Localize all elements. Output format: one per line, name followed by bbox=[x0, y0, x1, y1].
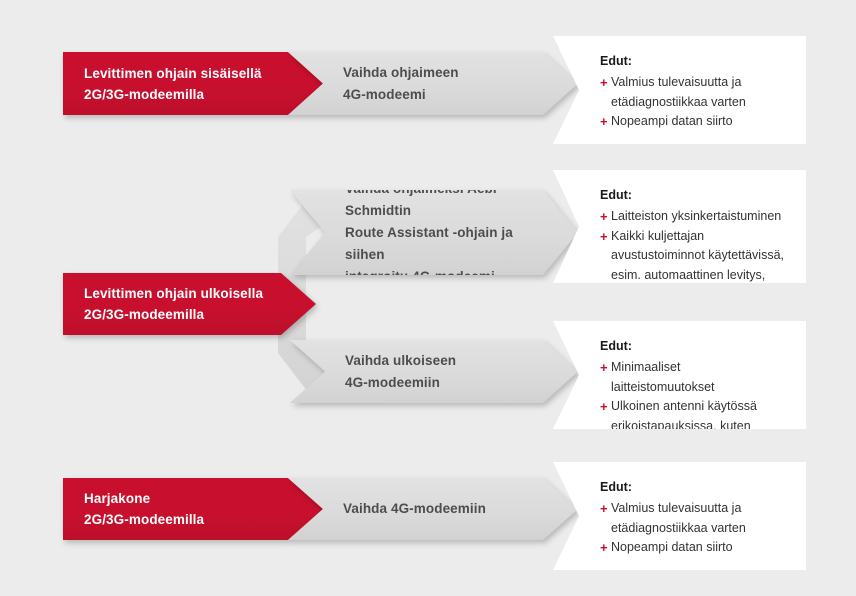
plus-icon: + bbox=[600, 73, 611, 93]
action-line-2: Route Assistant -ohjain ja siihen bbox=[345, 225, 513, 262]
benefits-card-route-assistant: Edut: + Laitteiston yksinkertaistuminen … bbox=[553, 170, 806, 283]
plus-icon: + bbox=[600, 207, 611, 227]
benefits-card-internal-modem: Edut: + Valmius tulevaisuutta ja etädiag… bbox=[553, 36, 806, 144]
source-label-external-modem: Levittimen ohjain ulkoisella 2G/3G-modee… bbox=[84, 283, 263, 325]
plus-icon: + bbox=[600, 112, 611, 132]
upgrade-path-diagram: Levittimen ohjain sisäisellä 2G/3G-modee… bbox=[0, 0, 856, 596]
benefit-text: Laitteiston yksinkertaistuminen bbox=[611, 207, 786, 227]
action-line-1: Vaihda 4G-modeemiin bbox=[343, 501, 486, 516]
benefit-item: + Laitteiston yksinkertaistuminen bbox=[600, 207, 786, 227]
benefit-item: + Nopeampi datan siirto bbox=[600, 112, 786, 132]
source-chevron-sweeper[interactable]: Harjakone 2G/3G-modeemilla bbox=[63, 478, 323, 540]
action-label-external-4g-modem: Vaihda ulkoiseen 4G-modeemiin bbox=[345, 350, 456, 394]
benefit-item: + Kaikki kuljettajan avustustoiminnot kä… bbox=[600, 227, 786, 325]
benefit-text: Nopeampi datan siirto bbox=[611, 112, 786, 132]
benefit-item: + Valmius tulevaisuutta ja etädiagnostii… bbox=[600, 499, 786, 538]
plus-icon: + bbox=[600, 538, 611, 558]
source-line-1: Harjakone bbox=[84, 491, 150, 506]
action-chevron-route-assistant[interactable]: Vaihda ohjaimeksi Aebi Schmidtin Route A… bbox=[290, 190, 578, 275]
benefits-title: Edut: bbox=[600, 52, 786, 71]
action-line-1: Vaihda ohjaimeksi Aebi Schmidtin bbox=[345, 181, 497, 218]
benefit-text: Valmius tulevaisuutta ja etädiagnostiikk… bbox=[611, 73, 786, 112]
source-chevron-external-modem[interactable]: Levittimen ohjain ulkoisella 2G/3G-modee… bbox=[63, 273, 316, 335]
plus-icon: + bbox=[600, 358, 611, 378]
action-chevron-external-4g-modem[interactable]: Vaihda ulkoiseen 4G-modeemiin bbox=[290, 340, 578, 403]
action-chevron-internal-modem[interactable]: Vaihda ohjaimeen 4G-modeemi bbox=[288, 52, 578, 115]
action-line-1: Vaihda ulkoiseen bbox=[345, 353, 456, 368]
plus-icon: + bbox=[600, 499, 611, 519]
source-line-2: 2G/3G-modeemilla bbox=[84, 87, 204, 102]
action-line-1: Vaihda ohjaimeen bbox=[343, 65, 459, 80]
source-chevron-internal-modem[interactable]: Levittimen ohjain sisäisellä 2G/3G-modee… bbox=[63, 52, 323, 115]
plus-icon: + bbox=[600, 397, 611, 417]
benefit-item: + Minimaaliset laitteistomuutokset bbox=[600, 358, 786, 397]
benefits-title: Edut: bbox=[600, 186, 786, 205]
action-chevron-sweeper[interactable]: Vaihda 4G-modeemiin bbox=[288, 478, 578, 540]
source-label-internal-modem: Levittimen ohjain sisäisellä 2G/3G-modee… bbox=[84, 63, 262, 105]
benefit-text: Minimaaliset laitteistomuutokset bbox=[611, 358, 786, 397]
source-line-2: 2G/3G-modeemilla bbox=[84, 512, 204, 527]
benefit-text: Nopeampi datan siirto bbox=[611, 538, 786, 558]
action-line-2: 4G-modeemiin bbox=[345, 375, 440, 390]
source-line-1: Levittimen ohjain sisäisellä bbox=[84, 66, 262, 81]
benefit-text: Kaikki kuljettajan avustustoiminnot käyt… bbox=[611, 227, 786, 325]
source-line-2: 2G/3G-modeemilla bbox=[84, 307, 204, 322]
plus-icon: + bbox=[600, 227, 611, 247]
benefits-title: Edut: bbox=[600, 337, 786, 356]
action-line-2: 4G-modeemi bbox=[343, 87, 426, 102]
action-line-3: integroitu 4G-modeemi bbox=[345, 269, 495, 284]
benefits-title: Edut: bbox=[600, 478, 786, 497]
benefit-text: Valmius tulevaisuutta ja etädiagnostiikk… bbox=[611, 499, 786, 538]
action-label-route-assistant: Vaihda ohjaimeksi Aebi Schmidtin Route A… bbox=[345, 178, 533, 288]
benefits-card-sweeper: Edut: + Valmius tulevaisuutta ja etädiag… bbox=[553, 462, 806, 570]
source-line-1: Levittimen ohjain ulkoisella bbox=[84, 286, 263, 301]
benefit-item: + Valmius tulevaisuutta ja etädiagnostii… bbox=[600, 73, 786, 112]
benefit-item: + Nopeampi datan siirto bbox=[600, 538, 786, 558]
benefits-card-external-4g-modem: Edut: + Minimaaliset laitteistomuutokset… bbox=[553, 321, 806, 429]
action-label-internal-modem: Vaihda ohjaimeen 4G-modeemi bbox=[343, 62, 459, 106]
source-label-sweeper: Harjakone 2G/3G-modeemilla bbox=[84, 488, 204, 530]
action-label-sweeper: Vaihda 4G-modeemiin bbox=[343, 498, 486, 520]
